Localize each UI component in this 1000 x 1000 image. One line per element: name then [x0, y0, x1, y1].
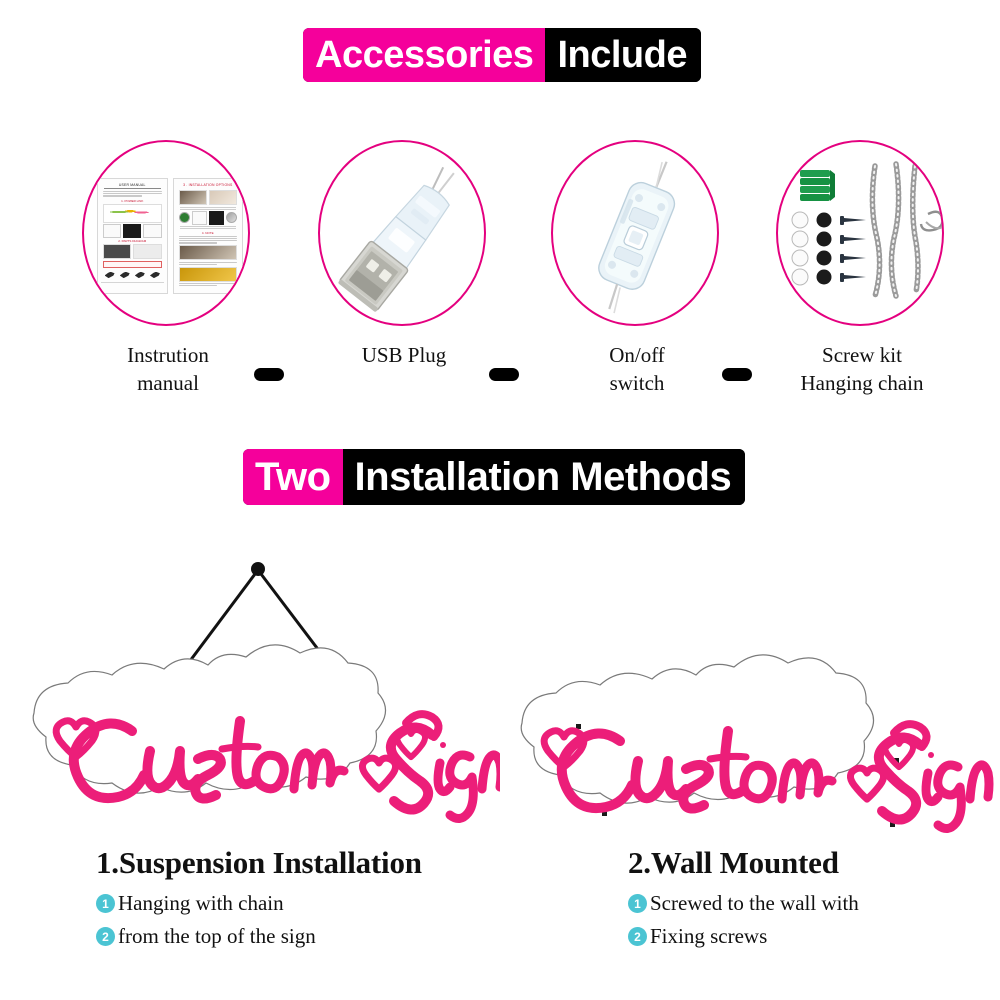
- wall-mounted-sign: [500, 545, 1000, 835]
- instruction-step: 1 Screwed to the wall with: [628, 891, 859, 916]
- white-caps: [792, 212, 808, 285]
- accessories-banner-highlight: Accessories: [303, 28, 545, 82]
- instructions-wall-mounted: 2.Wall Mounted 1 Screwed to the wall wit…: [628, 845, 859, 957]
- manual-page-1-title: USER MANUAL: [104, 183, 161, 189]
- instruction-manual-icon: USER MANUAL 1. POWER LINK: [84, 142, 248, 324]
- accessory-label-usb-plug: USB Plug: [289, 342, 519, 370]
- accessory-circle-frame: USER MANUAL 1. POWER LINK: [82, 140, 250, 326]
- manual-note-photos: [179, 245, 238, 260]
- manual-page-1-section-2: 2. PARTS DIAGRAM: [100, 239, 165, 243]
- step-badge: 1: [96, 894, 115, 913]
- chain-connector: [921, 212, 944, 231]
- accessory-item-screw-kit: Screw kit Hanging chain: [767, 140, 957, 330]
- accessory-item-onoff-switch: On/off switch: [542, 140, 732, 330]
- accessories-banner-rest: Include: [545, 28, 701, 82]
- accessory-circle-frame: [776, 140, 944, 326]
- manual-page-2: 3 . INSTALLATION OPTIONS: [173, 178, 244, 294]
- manual-page-2-section: 4. NOTE: [176, 231, 241, 235]
- accessory-label-onoff-switch: On/off switch: [522, 342, 752, 397]
- step-badge: 1: [628, 894, 647, 913]
- instruction-title: 2.Wall Mounted: [628, 845, 859, 881]
- accessories-banner: Accessories Include: [303, 28, 701, 82]
- usb-plug-icon: [320, 142, 484, 324]
- manual-install-flow: [179, 212, 238, 224]
- instruction-title: 1.Suspension Installation: [96, 845, 422, 881]
- accessory-label-screw-kit: Screw kit Hanging chain: [747, 342, 977, 397]
- suspension-sign: [0, 545, 500, 835]
- step-text: Fixing screws: [650, 924, 767, 949]
- step-text: Screwed to the wall with: [650, 891, 859, 916]
- accessories-row: USER MANUAL 1. POWER LINK: [0, 140, 1000, 350]
- manual-power-link-diagram: [103, 204, 162, 223]
- accessory-circle-frame: [318, 140, 486, 326]
- methods-banner-highlight: Two: [243, 449, 343, 505]
- instruction-step: 2 Fixing screws: [628, 924, 859, 949]
- manual-page-2-title: 3 . INSTALLATION OPTIONS: [180, 183, 237, 188]
- instructions-suspension: 1.Suspension Installation 1 Hanging with…: [96, 845, 422, 957]
- step-text: from the top of the sign: [118, 924, 316, 949]
- screws: [840, 216, 866, 282]
- methods-banner-rest: Installation Methods: [343, 449, 746, 505]
- separator-dash-1: [254, 368, 284, 381]
- accessory-label-instruction-manual: Instrution manual: [53, 342, 283, 397]
- accessory-item-instruction-manual: USER MANUAL 1. POWER LINK: [73, 140, 263, 330]
- screw-kit-icon: [778, 142, 942, 324]
- wall-anchors: [800, 170, 835, 201]
- manual-page-1-section-1: 1. POWER LINK: [100, 199, 165, 203]
- methods-banner: Two Installation Methods: [243, 449, 745, 505]
- accessory-circle-frame: [551, 140, 719, 326]
- instruction-step: 1 Hanging with chain: [96, 891, 422, 916]
- black-washers: [817, 213, 832, 285]
- manual-install-photos: [179, 190, 238, 205]
- hanging-chain: [872, 164, 918, 296]
- separator-dash-2: [489, 368, 519, 381]
- step-badge: 2: [96, 927, 115, 946]
- manual-parts-thumbs: [103, 244, 162, 259]
- onoff-switch-icon: [553, 142, 717, 324]
- signs-row: [0, 545, 1000, 835]
- manual-note-photo-gold: [179, 267, 238, 282]
- accessory-item-usb-plug: USB Plug: [309, 140, 499, 330]
- manual-warning-box: [103, 261, 162, 268]
- step-text: Hanging with chain: [118, 891, 284, 916]
- step-badge: 2: [628, 927, 647, 946]
- manual-tool-icons: [103, 270, 162, 281]
- manual-page-1: USER MANUAL 1. POWER LINK: [97, 178, 168, 294]
- manual-power-flow: [103, 225, 162, 237]
- instruction-step: 2 from the top of the sign: [96, 924, 422, 949]
